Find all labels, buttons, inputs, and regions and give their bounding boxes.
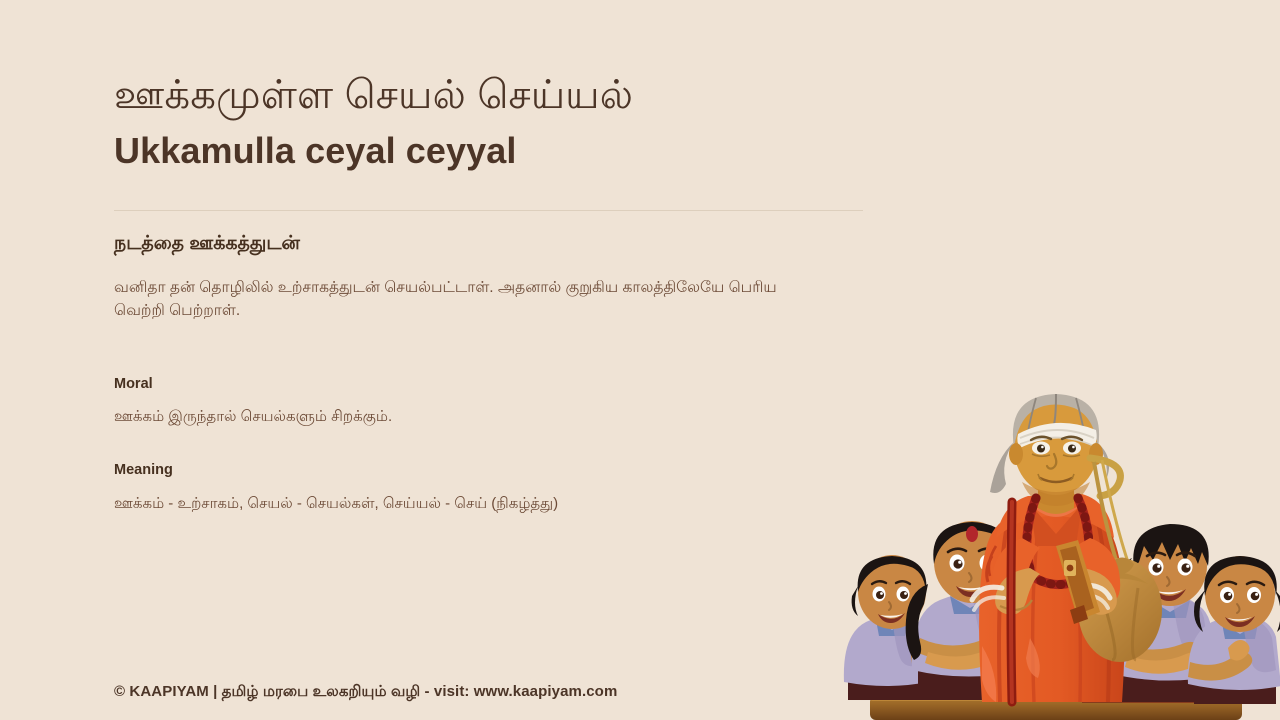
- elderly-sage-with-children-illustration: [832, 370, 1280, 720]
- child-figure-4: [1188, 556, 1280, 704]
- moral-text: ஊக்கம் இருந்தால் செயல்களும் சிறக்கும்.: [114, 406, 874, 429]
- walking-staff: [1011, 502, 1012, 702]
- story-block: நடத்தை ஊக்கத்துடன் வனிதா தன் தொழிலில் உற…: [114, 232, 874, 323]
- child-figure-1: [844, 555, 965, 700]
- moral-label: Moral: [114, 375, 874, 394]
- prayer-beads: [1027, 498, 1089, 585]
- meaning-text: ஊக்கம் - உற்சாகம், செயல் - செயல்கள், செய…: [114, 493, 874, 516]
- content-column: ஊக்கமுள்ள செயல் செய்யல் Ukkamulla ceyal …: [114, 0, 874, 515]
- meaning-label: Meaning: [114, 461, 874, 480]
- header-divider: [114, 210, 863, 211]
- moral-section: Moral ஊக்கம் இருந்தால் செயல்களும் சிறக்க…: [114, 375, 874, 429]
- story-heading: நடத்தை ஊக்கத்துடன்: [114, 232, 874, 257]
- cloth-bundle: [1078, 557, 1162, 662]
- footer-attribution: © KAAPIYAM | தமிழ் மரபை உலகறியும் வழி - …: [114, 683, 617, 702]
- child-figure-3: [1112, 524, 1216, 702]
- palm-leaf-scroll: [1056, 540, 1100, 624]
- title-block: ஊக்கமுள்ள செயல் செய்யல் Ukkamulla ceyal …: [114, 0, 874, 173]
- page-title-tamil: ஊக்கமுள்ள செயல் செய்யல்: [114, 72, 874, 118]
- platform-shape: [870, 696, 1242, 720]
- elderly-sage-figure: [972, 394, 1162, 702]
- child-figure-2: [906, 521, 1045, 700]
- illustration-panel: [832, 370, 1280, 720]
- story-body-text: வனிதா தன் தொழிலில் உற்சாகத்துடன் செயல்பட…: [114, 276, 814, 323]
- page-title-transliteration: Ukkamulla ceyal ceyyal: [114, 130, 874, 172]
- meaning-section: Meaning ஊக்கம் - உற்சாகம், செயல் - செயல்…: [114, 461, 874, 515]
